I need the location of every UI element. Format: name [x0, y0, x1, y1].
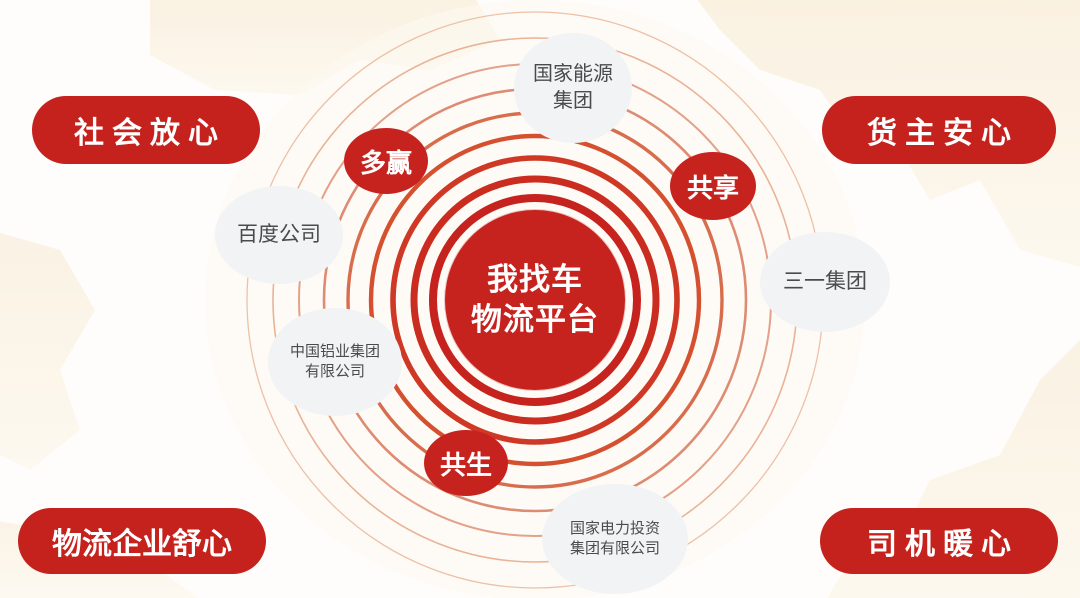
- partner-label-line-2: 集团有限公司: [570, 539, 660, 559]
- partner-label-line-1: 国家能源: [533, 61, 613, 88]
- core-line-1: 我找车: [487, 260, 583, 300]
- partner-node-guojia-dianli[interactable]: 国家电力投资 集团有限公司: [542, 484, 688, 594]
- corner-pill-label: 社会放心: [66, 108, 226, 152]
- corner-pill-wuliu-qiye-shuxin[interactable]: 物流企业舒心: [18, 508, 266, 574]
- value-badge-gongsheng[interactable]: 共生: [424, 430, 508, 496]
- partner-label-line-2: 集团: [553, 88, 593, 115]
- infographic-canvas: 我找车 物流平台 国家能源 集团 百度公司 三一集团 中国铝业集团 有限公司 国…: [0, 0, 1080, 598]
- partner-node-baidu[interactable]: 百度公司: [215, 186, 343, 284]
- core-platform-node[interactable]: 我找车 物流平台: [445, 210, 625, 390]
- value-badge-label: 多赢: [360, 143, 412, 180]
- corner-pill-label: 物流企业舒心: [52, 519, 232, 563]
- partner-label-line-1: 中国铝业集团: [290, 342, 380, 362]
- corner-pill-label: 司机暖心: [859, 519, 1019, 563]
- partner-node-guojia-nengyuan[interactable]: 国家能源 集团: [514, 33, 632, 143]
- partner-node-sanyi[interactable]: 三一集团: [760, 232, 890, 332]
- partner-label-line-1: 百度公司: [237, 221, 321, 249]
- partner-label-line-1: 三一集团: [783, 268, 867, 296]
- partner-label-line-2: 有限公司: [305, 362, 365, 382]
- corner-pill-huozhu-anxin[interactable]: 货主安心: [822, 96, 1056, 164]
- partner-label-line-1: 国家电力投资: [570, 519, 660, 539]
- value-badge-label: 共生: [440, 445, 492, 482]
- corner-pill-siji-nuanxin[interactable]: 司机暖心: [820, 508, 1058, 574]
- core-line-2: 物流平台: [471, 300, 599, 340]
- value-badge-gongxiang[interactable]: 共享: [670, 152, 756, 220]
- corner-pill-shehui-fangxin[interactable]: 社会放心: [32, 96, 260, 164]
- value-badge-duoying[interactable]: 多赢: [344, 128, 428, 194]
- corner-pill-label: 货主安心: [859, 108, 1019, 152]
- value-badge-label: 共享: [687, 168, 739, 205]
- partner-node-zhongguo-lvye[interactable]: 中国铝业集团 有限公司: [268, 308, 402, 416]
